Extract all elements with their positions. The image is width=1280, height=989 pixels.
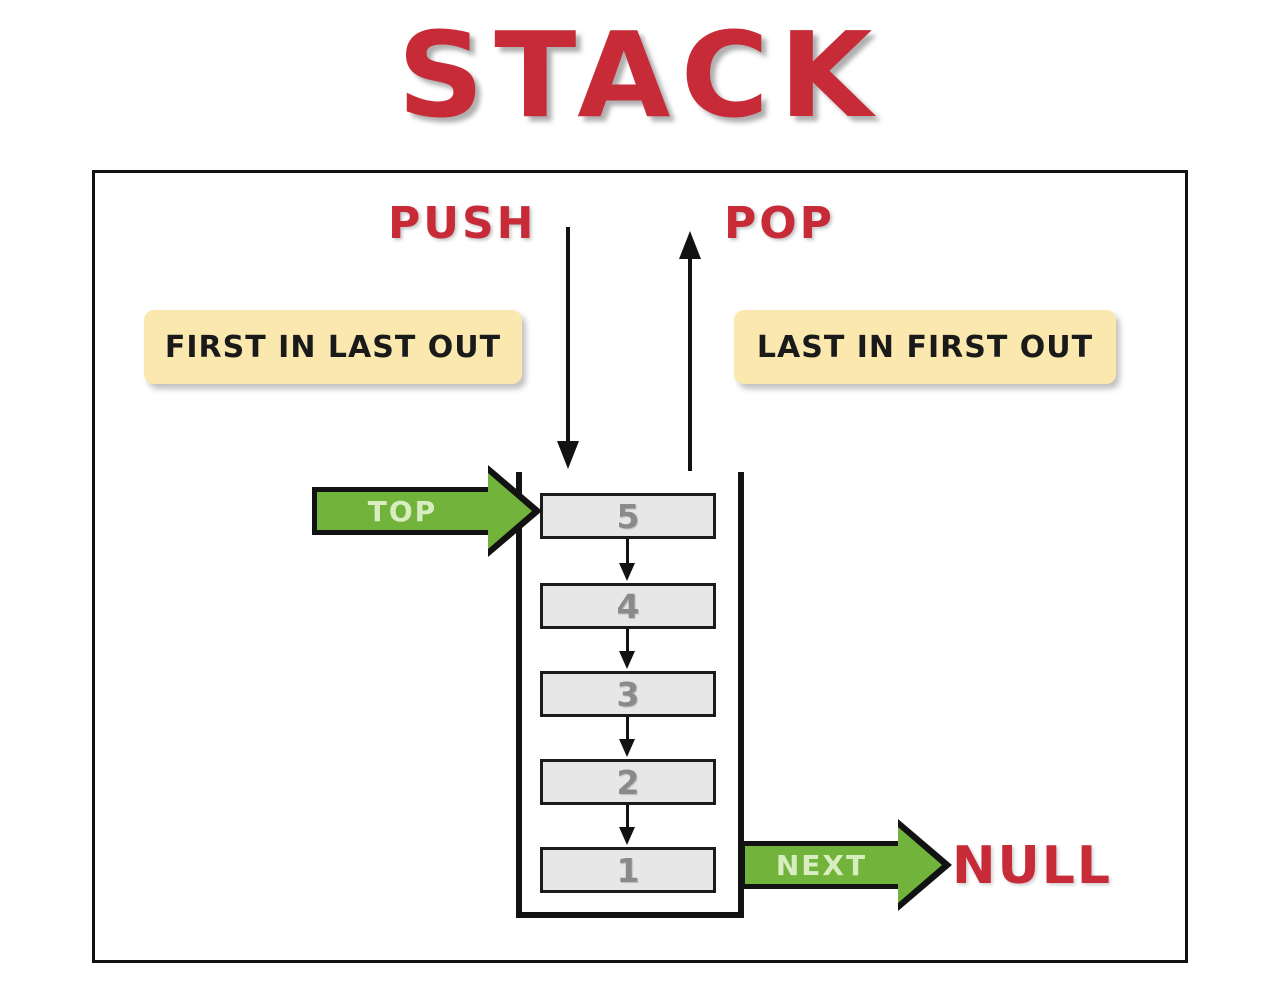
push-arrow-head	[557, 441, 579, 469]
stack-link-shaft	[626, 805, 629, 829]
push-arrow-shaft	[566, 227, 570, 445]
stack-element-box: 2	[540, 759, 716, 805]
stack-element-box: 1	[540, 847, 716, 893]
pop-arrow-head	[679, 231, 701, 259]
next-pointer-label: NEXT	[740, 841, 898, 889]
top-pointer-label: TOP	[312, 487, 488, 535]
stack-link-head	[619, 651, 635, 669]
stack-element-box: 3	[540, 671, 716, 717]
stack-link-head	[619, 739, 635, 757]
next-pointer-arrow: NEXT	[740, 841, 898, 889]
note-last-in-first-out: LAST IN FIRST OUT	[734, 310, 1116, 384]
null-label: NULL	[952, 836, 1112, 896]
stack-link-shaft	[626, 539, 629, 565]
stack-link-head	[619, 827, 635, 845]
page-title: STACK	[0, 14, 1280, 138]
stack-link-shaft	[626, 629, 629, 653]
pop-label: POP	[724, 198, 835, 249]
pop-arrow-shaft	[688, 257, 692, 471]
stack-link-head	[619, 563, 635, 581]
stack-link-shaft	[626, 717, 629, 741]
stack-element-box: 5	[540, 493, 716, 539]
note-first-in-last-out: FIRST IN LAST OUT	[144, 310, 522, 384]
top-pointer-arrow: TOP	[312, 487, 488, 535]
push-label: PUSH	[388, 198, 537, 249]
stack-element-box: 4	[540, 583, 716, 629]
